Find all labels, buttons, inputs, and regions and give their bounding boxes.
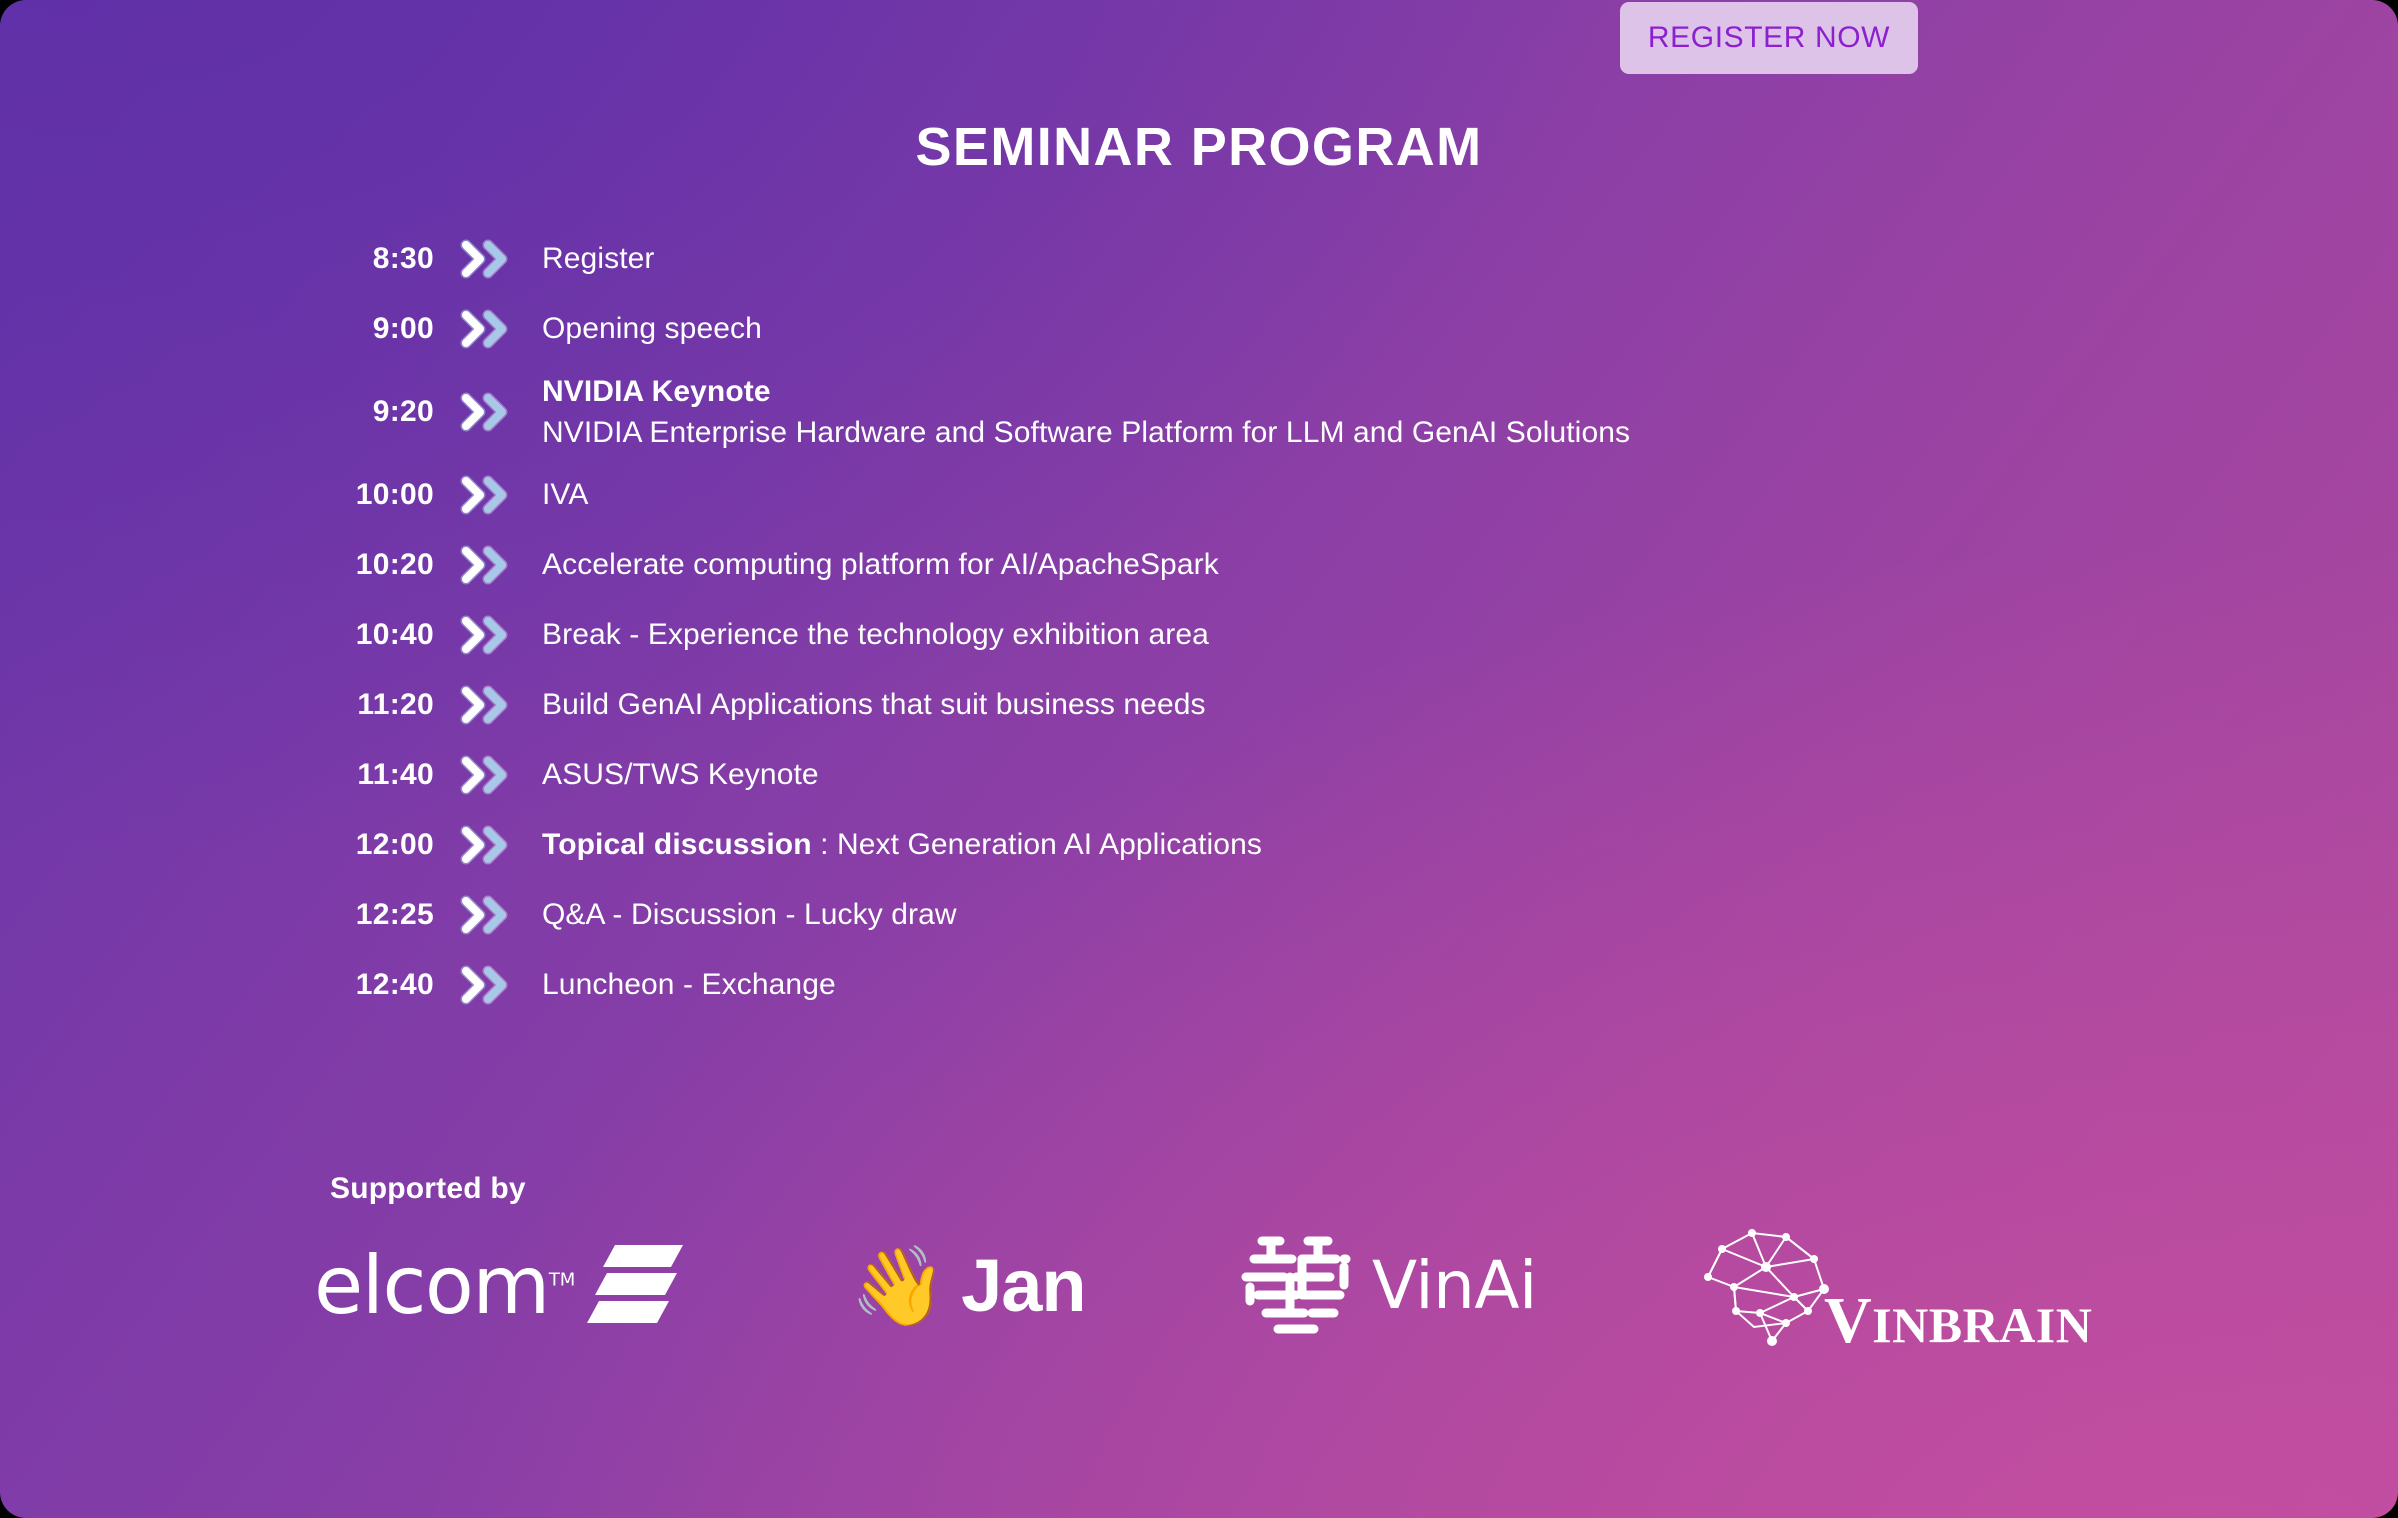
vinai-wordmark: VinAi: [1372, 1253, 1537, 1319]
schedule-description: NVIDIA KeynoteNVIDIA Enterprise Hardware…: [534, 371, 2200, 454]
double-chevron-right-icon: [438, 825, 534, 865]
schedule-item-title: Q&A - Discussion - Lucky draw: [542, 898, 957, 931]
schedule-item-title: Accelerate computing platform for AI/Apa…: [542, 548, 1219, 581]
schedule-item-title: Break - Experience the technology exhibi…: [542, 618, 1209, 651]
schedule-time: 11:40: [300, 758, 438, 792]
sponsor-logo-jan: 👋 Jan: [720, 1247, 1120, 1325]
schedule-item-title: IVA: [542, 478, 588, 511]
schedule-description: Accelerate computing platform for AI/Apa…: [534, 544, 2200, 585]
schedule-description: Build GenAI Applications that suit busin…: [534, 684, 2200, 725]
double-chevron-right-icon: [438, 615, 534, 655]
schedule-description: IVA: [534, 474, 2200, 515]
supported-by-label: Supported by: [330, 1172, 526, 1206]
schedule-item-title: ASUS/TWS Keynote: [542, 758, 819, 791]
vinbrain-wordmark: VINBRAIN: [1824, 1288, 2092, 1354]
schedule-item-title: Topical discussion: [542, 828, 812, 861]
double-chevron-right-icon: [438, 965, 534, 1005]
double-chevron-right-icon: [438, 392, 534, 432]
waving-hand-icon: 👋: [850, 1247, 947, 1325]
vinai-circuit-icon: [1240, 1225, 1360, 1348]
schedule-time: 11:20: [300, 688, 438, 722]
schedule-description: Opening speech: [534, 308, 2200, 349]
schedule-row: 10:00IVA: [300, 460, 2200, 530]
schedule-time: 9:00: [300, 312, 438, 346]
schedule-time: 10:40: [300, 618, 438, 652]
schedule-row: 11:20Build GenAI Applications that suit …: [300, 670, 2200, 740]
double-chevron-right-icon: [438, 309, 534, 349]
schedule-time: 9:20: [300, 395, 438, 429]
schedule-list: 8:30Register9:00Opening speech9:20NVIDIA…: [300, 224, 2200, 1020]
seminar-program-poster: REGISTER NOW SEMINAR PROGRAM 8:30Registe…: [0, 0, 2398, 1518]
page-title: SEMINAR PROGRAM: [0, 116, 2398, 178]
sponsor-logo-vinai: VinAi: [1120, 1225, 1550, 1348]
schedule-time: 12:00: [300, 828, 438, 862]
schedule-row: 12:00Topical discussion : Next Generatio…: [300, 810, 2200, 880]
schedule-description: Break - Experience the technology exhibi…: [534, 614, 2200, 655]
schedule-item-title: Opening speech: [542, 312, 762, 345]
double-chevron-right-icon: [438, 239, 534, 279]
schedule-row: 9:00Opening speech: [300, 294, 2200, 364]
schedule-description: Luncheon - Exchange: [534, 964, 2200, 1005]
schedule-description: Topical discussion : Next Generation AI …: [534, 824, 2200, 865]
elcom-wordmark: elcomTM: [314, 1246, 575, 1326]
double-chevron-right-icon: [438, 685, 534, 725]
schedule-description: ASUS/TWS Keynote: [534, 754, 2200, 795]
schedule-time: 10:00: [300, 478, 438, 512]
schedule-description: Q&A - Discussion - Lucky draw: [534, 894, 2200, 935]
trademark-icon: TM: [549, 1269, 576, 1290]
sponsor-logo-vinbrain: VINBRAIN: [1550, 1215, 2010, 1358]
schedule-row: 12:40Luncheon - Exchange: [300, 950, 2200, 1020]
double-chevron-right-icon: [438, 475, 534, 515]
schedule-time: 10:20: [300, 548, 438, 582]
double-chevron-right-icon: [438, 755, 534, 795]
schedule-item-title: Luncheon - Exchange: [542, 968, 836, 1001]
schedule-row: 10:40Break - Experience the technology e…: [300, 600, 2200, 670]
schedule-row: 12:25Q&A - Discussion - Lucky draw: [300, 880, 2200, 950]
schedule-item-title: Build GenAI Applications that suit busin…: [542, 688, 1206, 721]
schedule-row: 11:40ASUS/TWS Keynote: [300, 740, 2200, 810]
schedule-time: 12:40: [300, 968, 438, 1002]
register-now-button[interactable]: REGISTER NOW: [1620, 2, 1918, 74]
elcom-e-mark-icon: [585, 1241, 685, 1332]
schedule-row: 9:20NVIDIA KeynoteNVIDIA Enterprise Hard…: [300, 364, 2200, 460]
schedule-item-title: Register: [542, 242, 655, 275]
sponsor-logo-elcom: elcomTM: [300, 1241, 720, 1332]
schedule-row: 8:30Register: [300, 224, 2200, 294]
schedule-item-subtitle: NVIDIA Enterprise Hardware and Software …: [542, 412, 2200, 453]
schedule-item-detail: : Next Generation AI Applications: [812, 828, 1262, 861]
schedule-time: 12:25: [300, 898, 438, 932]
double-chevron-right-icon: [438, 895, 534, 935]
sponsor-logos: elcomTM 👋 Jan: [300, 1216, 2200, 1356]
jan-wordmark: Jan: [961, 1249, 1086, 1323]
schedule-time: 8:30: [300, 242, 438, 276]
schedule-item-title: NVIDIA Keynote: [542, 375, 771, 408]
schedule-row: 10:20Accelerate computing platform for A…: [300, 530, 2200, 600]
double-chevron-right-icon: [438, 545, 534, 585]
schedule-description: Register: [534, 238, 2200, 279]
